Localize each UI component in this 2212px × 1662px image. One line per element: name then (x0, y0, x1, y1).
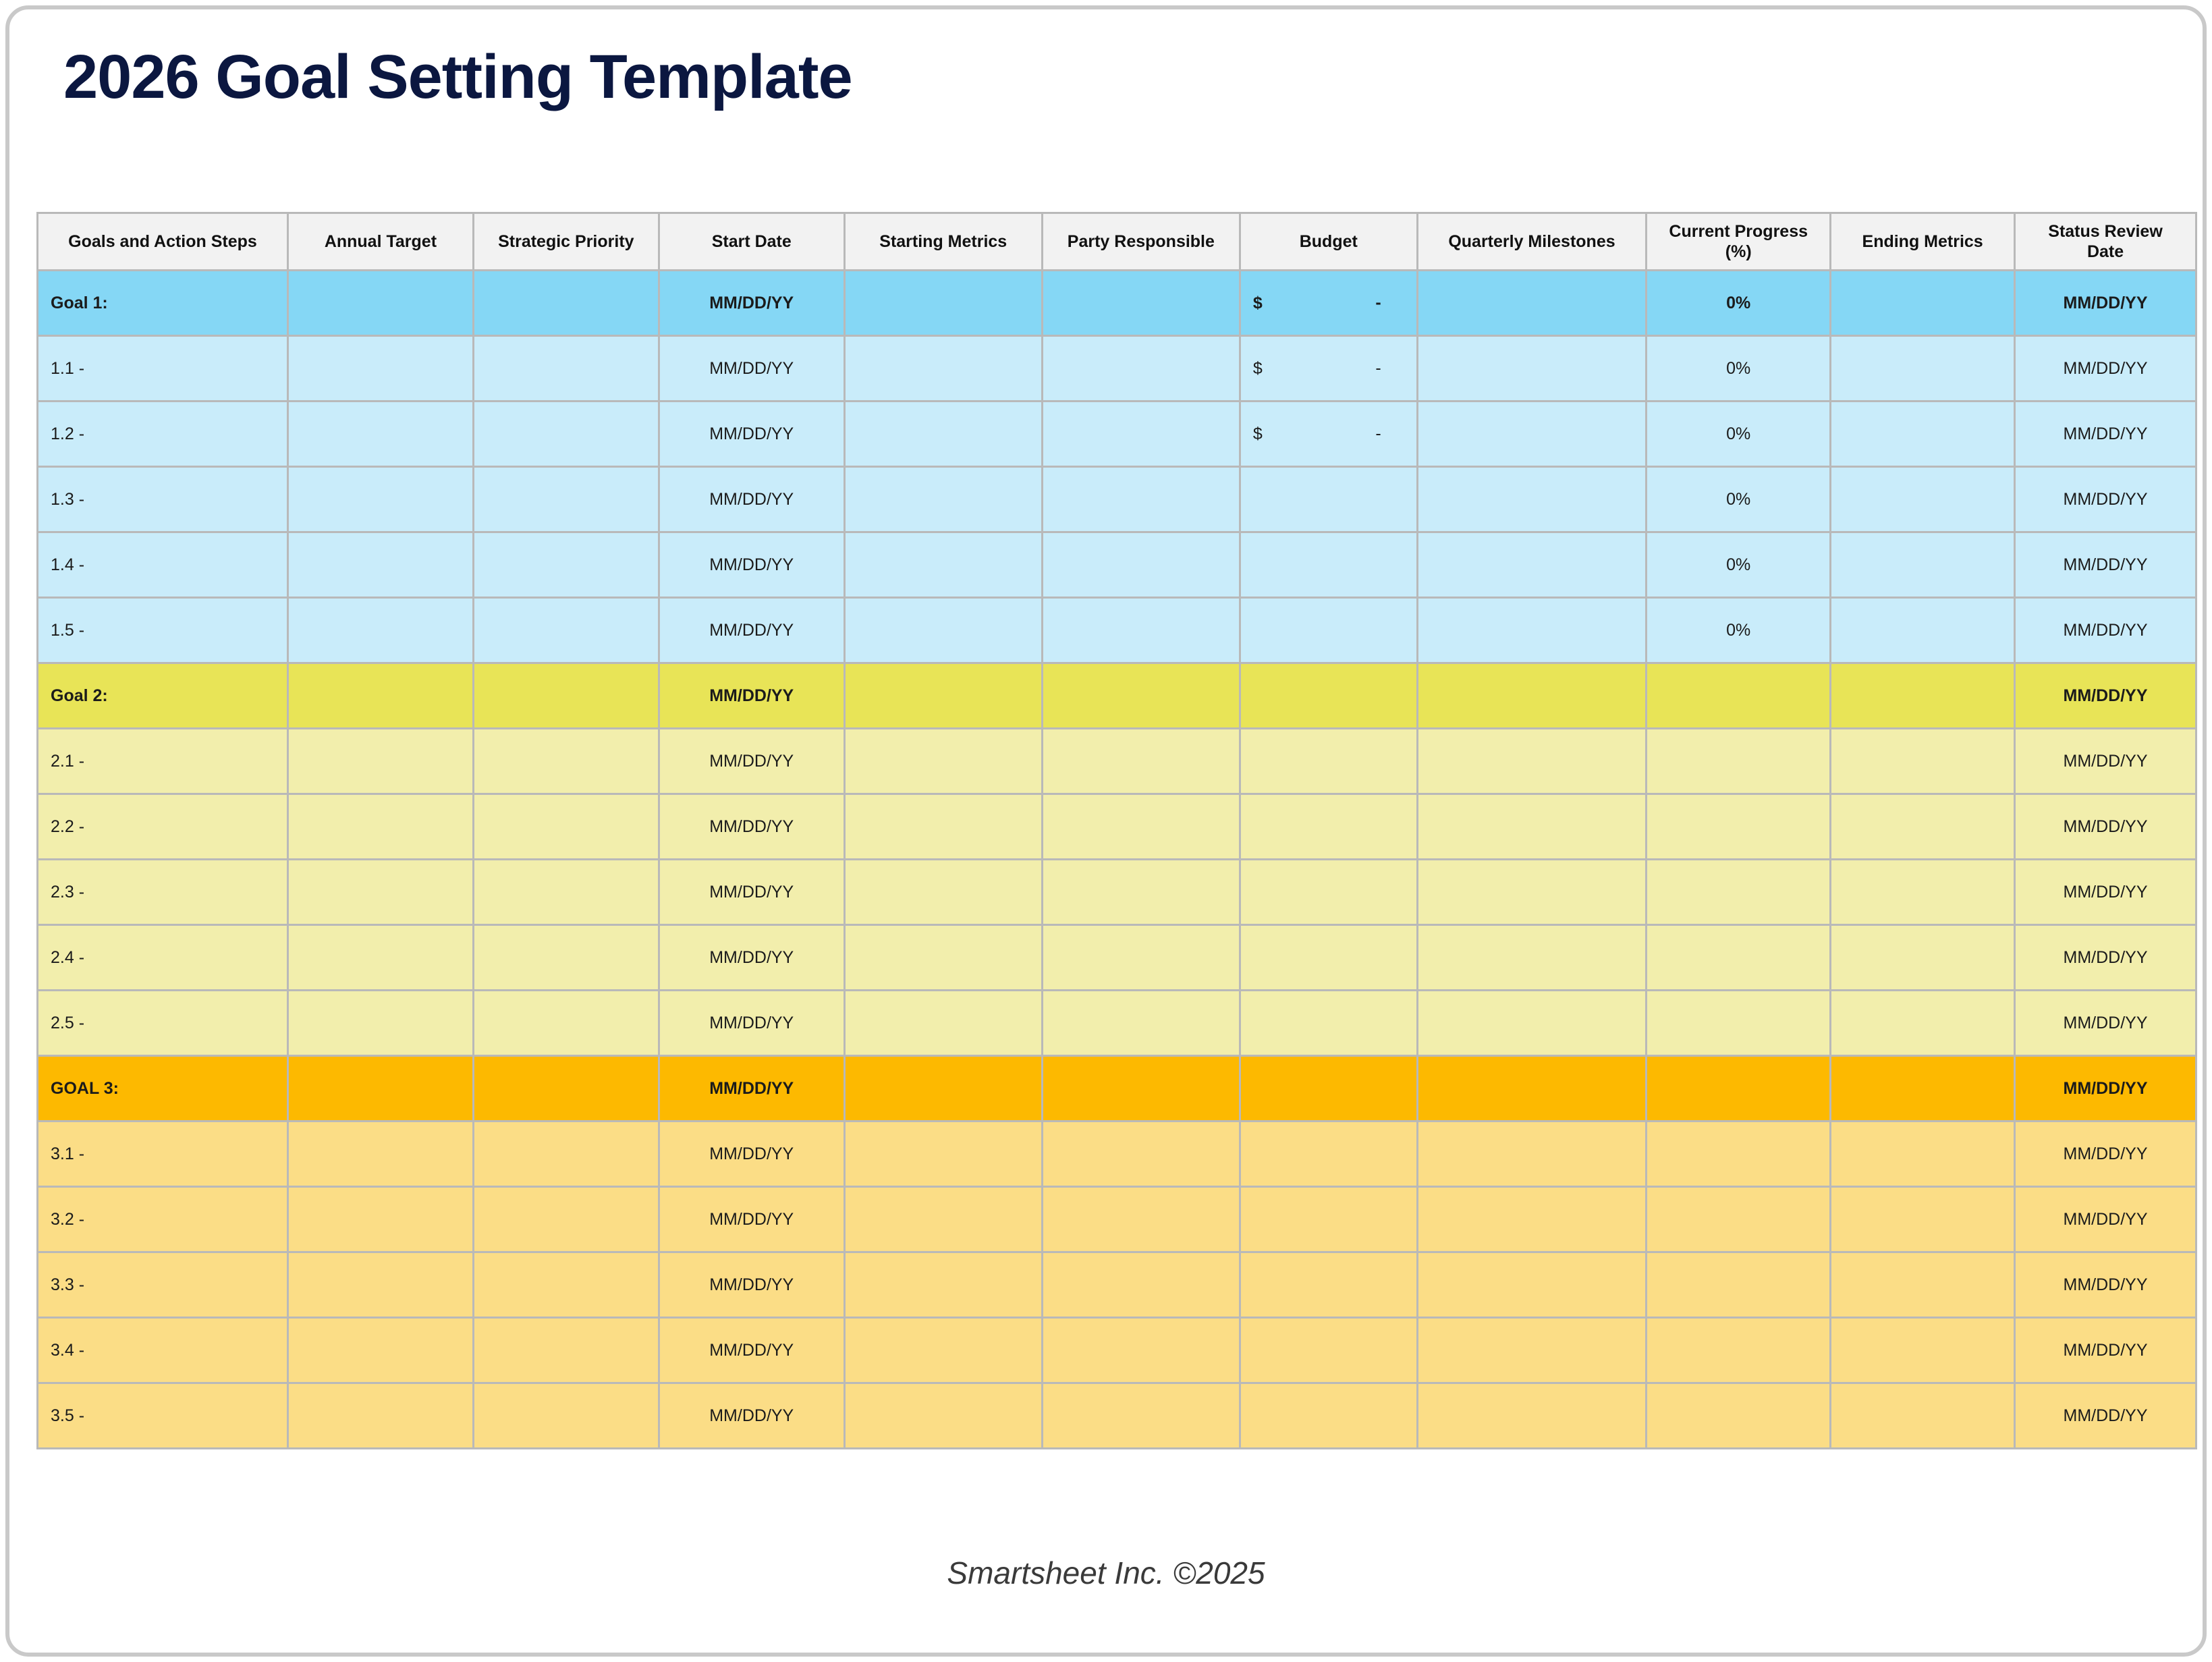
cell-strategic-priority-9[interactable] (474, 860, 660, 926)
cell-quarterly-milestones-3[interactable] (1418, 468, 1648, 533)
cell-budget-1[interactable]: $- (1241, 337, 1418, 402)
cell-current-progress-16[interactable] (1647, 1319, 1831, 1384)
cell-status-review-date-15[interactable]: MM/DD/YY (2016, 1253, 2197, 1319)
cell-current-progress-17[interactable] (1647, 1384, 1831, 1449)
cell-start-date-14[interactable]: MM/DD/YY (660, 1188, 846, 1253)
cell-annual-target-15[interactable] (289, 1253, 474, 1319)
cell-budget-9[interactable] (1241, 860, 1418, 926)
cell-party-responsible-8[interactable] (1043, 795, 1241, 860)
cell-party-responsible-14[interactable] (1043, 1188, 1241, 1253)
cell-current-progress-15[interactable] (1647, 1253, 1831, 1319)
cell-status-review-date-1[interactable]: MM/DD/YY (2016, 337, 2197, 402)
cell-ending-metrics-12[interactable] (1831, 1057, 2016, 1122)
cell-status-review-date-13[interactable]: MM/DD/YY (2016, 1122, 2197, 1188)
cell-starting-metrics-14[interactable] (846, 1188, 1043, 1253)
cell-budget-17[interactable] (1241, 1384, 1418, 1449)
cell-budget-5[interactable] (1241, 599, 1418, 664)
cell-current-progress-10[interactable] (1647, 926, 1831, 991)
cell-start-date-17[interactable]: MM/DD/YY (660, 1384, 846, 1449)
table-row[interactable]: 1.4 -MM/DD/YY0%MM/DD/YY (36, 533, 2197, 599)
cell-party-responsible-16[interactable] (1043, 1319, 1241, 1384)
budget-currency-symbol: $ (1253, 424, 1263, 443)
cell-party-responsible-12[interactable] (1043, 1057, 1241, 1122)
cell-start-date-12[interactable]: MM/DD/YY (660, 1057, 846, 1122)
table-row[interactable]: 3.4 -MM/DD/YYMM/DD/YY (36, 1319, 2197, 1384)
cell-strategic-priority-17[interactable] (474, 1384, 660, 1449)
col-header-current-progress[interactable]: Current Progress (%) (1647, 212, 1831, 271)
col-header-goals[interactable]: Goals and Action Steps (36, 212, 289, 271)
cell-strategic-priority-5[interactable] (474, 599, 660, 664)
cell-status-review-date-9[interactable]: MM/DD/YY (2016, 860, 2197, 926)
cell-quarterly-milestones-8[interactable] (1418, 795, 1648, 860)
cell-party-responsible-13[interactable] (1043, 1122, 1241, 1188)
document-card: 2026 Goal Setting Template Goals and Act… (5, 5, 2207, 1657)
cell-status-review-date-5[interactable]: MM/DD/YY (2016, 599, 2197, 664)
cell-strategic-priority-14[interactable] (474, 1188, 660, 1253)
cell-quarterly-milestones-6[interactable] (1418, 664, 1648, 729)
cell-budget-14[interactable] (1241, 1188, 1418, 1253)
cell-annual-target-10[interactable] (289, 926, 474, 991)
table-row[interactable]: 2.2 -MM/DD/YYMM/DD/YY (36, 795, 2197, 860)
cell-quarterly-milestones-11[interactable] (1418, 991, 1648, 1057)
cell-annual-target-5[interactable] (289, 599, 474, 664)
cell-annual-target-0[interactable] (289, 271, 474, 337)
cell-ending-metrics-13[interactable] (1831, 1122, 2016, 1188)
cell-ending-metrics-16[interactable] (1831, 1319, 2016, 1384)
table-row[interactable]: 1.1 -MM/DD/YY$-0%MM/DD/YY (36, 337, 2197, 402)
table-row[interactable]: 2.4 -MM/DD/YYMM/DD/YY (36, 926, 2197, 991)
cell-status-review-date-6[interactable]: MM/DD/YY (2016, 664, 2197, 729)
cell-goal-2[interactable]: 1.2 - (36, 402, 289, 468)
cell-current-progress-12[interactable] (1647, 1057, 1831, 1122)
cell-status-review-date-16[interactable]: MM/DD/YY (2016, 1319, 2197, 1384)
cell-starting-metrics-5[interactable] (846, 599, 1043, 664)
cell-ending-metrics-10[interactable] (1831, 926, 2016, 991)
cell-quarterly-milestones-15[interactable] (1418, 1253, 1648, 1319)
cell-starting-metrics-3[interactable] (846, 468, 1043, 533)
cell-goal-6[interactable]: Goal 2: (36, 664, 289, 729)
cell-quarterly-milestones-7[interactable] (1418, 729, 1648, 795)
cell-ending-metrics-8[interactable] (1831, 795, 2016, 860)
cell-party-responsible-10[interactable] (1043, 926, 1241, 991)
cell-budget-6[interactable] (1241, 664, 1418, 729)
cell-starting-metrics-6[interactable] (846, 664, 1043, 729)
cell-start-date-15[interactable]: MM/DD/YY (660, 1253, 846, 1319)
budget-value: - (1375, 424, 1381, 444)
cell-starting-metrics-17[interactable] (846, 1384, 1043, 1449)
cell-annual-target-8[interactable] (289, 795, 474, 860)
cell-current-progress-9[interactable] (1647, 860, 1831, 926)
cell-start-date-6[interactable]: MM/DD/YY (660, 664, 846, 729)
cell-status-review-date-8[interactable]: MM/DD/YY (2016, 795, 2197, 860)
cell-goal-13[interactable]: 3.1 - (36, 1122, 289, 1188)
col-header-status-review-date[interactable]: Status Review Date (2016, 212, 2197, 271)
cell-quarterly-milestones-1[interactable] (1418, 337, 1648, 402)
cell-current-progress-4[interactable]: 0% (1647, 533, 1831, 599)
cell-budget-11[interactable] (1241, 991, 1418, 1057)
goal-setting-table: Goals and Action Steps Annual Target Str… (36, 212, 2197, 1449)
table-body: Goal 1:MM/DD/YY$-0%MM/DD/YY1.1 -MM/DD/YY… (36, 271, 2197, 1449)
cell-strategic-priority-13[interactable] (474, 1122, 660, 1188)
cell-annual-target-1[interactable] (289, 337, 474, 402)
cell-starting-metrics-2[interactable] (846, 402, 1043, 468)
cell-ending-metrics-9[interactable] (1831, 860, 2016, 926)
cell-quarterly-milestones-10[interactable] (1418, 926, 1648, 991)
cell-quarterly-milestones-9[interactable] (1418, 860, 1648, 926)
cell-party-responsible-2[interactable] (1043, 402, 1241, 468)
cell-party-responsible-6[interactable] (1043, 664, 1241, 729)
cell-annual-target-16[interactable] (289, 1319, 474, 1384)
cell-goal-17[interactable]: 3.5 - (36, 1384, 289, 1449)
goal-header-row[interactable]: Goal 1:MM/DD/YY$-0%MM/DD/YY (36, 271, 2197, 337)
cell-ending-metrics-15[interactable] (1831, 1253, 2016, 1319)
cell-party-responsible-4[interactable] (1043, 533, 1241, 599)
cell-goal-8[interactable]: 2.2 - (36, 795, 289, 860)
cell-status-review-date-4[interactable]: MM/DD/YY (2016, 533, 2197, 599)
cell-status-review-date-2[interactable]: MM/DD/YY (2016, 402, 2197, 468)
status-review-label-line1: Status Review (2048, 222, 2163, 241)
cell-start-date-9[interactable]: MM/DD/YY (660, 860, 846, 926)
cell-strategic-priority-6[interactable] (474, 664, 660, 729)
cell-strategic-priority-8[interactable] (474, 795, 660, 860)
current-progress-label-line1: Current Progress (1669, 222, 1808, 241)
cell-quarterly-milestones-12[interactable] (1418, 1057, 1648, 1122)
col-header-quarterly-milestones[interactable]: Quarterly Milestones (1418, 212, 1648, 271)
cell-party-responsible-1[interactable] (1043, 337, 1241, 402)
cell-ending-metrics-7[interactable] (1831, 729, 2016, 795)
cell-strategic-priority-1[interactable] (474, 337, 660, 402)
cell-goal-4[interactable]: 1.4 - (36, 533, 289, 599)
cell-start-date-7[interactable]: MM/DD/YY (660, 729, 846, 795)
cell-goal-3[interactable]: 1.3 - (36, 468, 289, 533)
cell-quarterly-milestones-16[interactable] (1418, 1319, 1648, 1384)
cell-quarterly-milestones-0[interactable] (1418, 271, 1648, 337)
budget-value: - (1375, 294, 1381, 313)
cell-annual-target-11[interactable] (289, 991, 474, 1057)
cell-quarterly-milestones-14[interactable] (1418, 1188, 1648, 1253)
cell-goal-11[interactable]: 2.5 - (36, 991, 289, 1057)
cell-status-review-date-11[interactable]: MM/DD/YY (2016, 991, 2197, 1057)
cell-strategic-priority-2[interactable] (474, 402, 660, 468)
cell-ending-metrics-11[interactable] (1831, 991, 2016, 1057)
table-row[interactable]: 3.3 -MM/DD/YYMM/DD/YY (36, 1253, 2197, 1319)
cell-start-date-11[interactable]: MM/DD/YY (660, 991, 846, 1057)
cell-party-responsible-3[interactable] (1043, 468, 1241, 533)
cell-budget-7[interactable] (1241, 729, 1418, 795)
cell-ending-metrics-3[interactable] (1831, 468, 2016, 533)
table-row[interactable]: 2.5 -MM/DD/YYMM/DD/YY (36, 991, 2197, 1057)
cell-current-progress-1[interactable]: 0% (1647, 337, 1831, 402)
cell-start-date-3[interactable]: MM/DD/YY (660, 468, 846, 533)
cell-current-progress-14[interactable] (1647, 1188, 1831, 1253)
cell-strategic-priority-4[interactable] (474, 533, 660, 599)
page-title: 2026 Goal Setting Template (63, 42, 852, 113)
cell-status-review-date-0[interactable]: MM/DD/YY (2016, 271, 2197, 337)
cell-annual-target-17[interactable] (289, 1384, 474, 1449)
cell-annual-target-6[interactable] (289, 664, 474, 729)
cell-annual-target-3[interactable] (289, 468, 474, 533)
cell-current-progress-8[interactable] (1647, 795, 1831, 860)
cell-quarterly-milestones-17[interactable] (1418, 1384, 1648, 1449)
cell-annual-target-9[interactable] (289, 860, 474, 926)
cell-party-responsible-15[interactable] (1043, 1253, 1241, 1319)
cell-start-date-13[interactable]: MM/DD/YY (660, 1122, 846, 1188)
cell-strategic-priority-15[interactable] (474, 1253, 660, 1319)
cell-starting-metrics-11[interactable] (846, 991, 1043, 1057)
cell-budget-3[interactable] (1241, 468, 1418, 533)
table-row[interactable]: 2.1 -MM/DD/YYMM/DD/YY (36, 729, 2197, 795)
budget-value: - (1375, 359, 1381, 379)
cell-goal-12[interactable]: GOAL 3: (36, 1057, 289, 1122)
cell-starting-metrics-7[interactable] (846, 729, 1043, 795)
cell-strategic-priority-16[interactable] (474, 1319, 660, 1384)
cell-goal-0[interactable]: Goal 1: (36, 271, 289, 337)
cell-ending-metrics-2[interactable] (1831, 402, 2016, 468)
cell-ending-metrics-4[interactable] (1831, 533, 2016, 599)
cell-annual-target-2[interactable] (289, 402, 474, 468)
col-header-start-date[interactable]: Start Date (660, 212, 846, 271)
cell-status-review-date-12[interactable]: MM/DD/YY (2016, 1057, 2197, 1122)
cell-starting-metrics-1[interactable] (846, 337, 1043, 402)
cell-starting-metrics-9[interactable] (846, 860, 1043, 926)
cell-starting-metrics-16[interactable] (846, 1319, 1043, 1384)
cell-starting-metrics-13[interactable] (846, 1122, 1043, 1188)
cell-annual-target-14[interactable] (289, 1188, 474, 1253)
cell-annual-target-7[interactable] (289, 729, 474, 795)
table-row[interactable]: 1.3 -MM/DD/YY0%MM/DD/YY (36, 468, 2197, 533)
cell-annual-target-4[interactable] (289, 533, 474, 599)
cell-budget-4[interactable] (1241, 533, 1418, 599)
table-row[interactable]: 1.5 -MM/DD/YY0%MM/DD/YY (36, 599, 2197, 664)
cell-goal-7[interactable]: 2.1 - (36, 729, 289, 795)
cell-ending-metrics-14[interactable] (1831, 1188, 2016, 1253)
cell-ending-metrics-1[interactable] (1831, 337, 2016, 402)
cell-strategic-priority-11[interactable] (474, 991, 660, 1057)
col-header-party-responsible[interactable]: Party Responsible (1043, 212, 1241, 271)
cell-start-date-4[interactable]: MM/DD/YY (660, 533, 846, 599)
cell-start-date-16[interactable]: MM/DD/YY (660, 1319, 846, 1384)
cell-budget-13[interactable] (1241, 1122, 1418, 1188)
cell-start-date-0[interactable]: MM/DD/YY (660, 271, 846, 337)
cell-quarterly-milestones-13[interactable] (1418, 1122, 1648, 1188)
cell-status-review-date-14[interactable]: MM/DD/YY (2016, 1188, 2197, 1253)
page-root: 2026 Goal Setting Template Goals and Act… (0, 0, 2212, 1662)
cell-party-responsible-0[interactable] (1043, 271, 1241, 337)
col-header-starting-metrics[interactable]: Starting Metrics (846, 212, 1043, 271)
cell-quarterly-milestones-4[interactable] (1418, 533, 1648, 599)
cell-status-review-date-3[interactable]: MM/DD/YY (2016, 468, 2197, 533)
cell-ending-metrics-5[interactable] (1831, 599, 2016, 664)
cell-strategic-priority-0[interactable] (474, 271, 660, 337)
cell-status-review-date-17[interactable]: MM/DD/YY (2016, 1384, 2197, 1449)
cell-goal-16[interactable]: 3.4 - (36, 1319, 289, 1384)
cell-budget-16[interactable] (1241, 1319, 1418, 1384)
cell-current-progress-13[interactable] (1647, 1122, 1831, 1188)
cell-start-date-8[interactable]: MM/DD/YY (660, 795, 846, 860)
table-header: Goals and Action Steps Annual Target Str… (36, 212, 2197, 271)
col-header-ending-metrics[interactable]: Ending Metrics (1831, 212, 2016, 271)
cell-ending-metrics-6[interactable] (1831, 664, 2016, 729)
cell-budget-0[interactable]: $- (1241, 271, 1418, 337)
cell-goal-15[interactable]: 3.3 - (36, 1253, 289, 1319)
cell-status-review-date-10[interactable]: MM/DD/YY (2016, 926, 2197, 991)
goal-header-row[interactable]: Goal 2:MM/DD/YYMM/DD/YY (36, 664, 2197, 729)
cell-goal-1[interactable]: 1.1 - (36, 337, 289, 402)
cell-budget-10[interactable] (1241, 926, 1418, 991)
cell-starting-metrics-0[interactable] (846, 271, 1043, 337)
cell-party-responsible-7[interactable] (1043, 729, 1241, 795)
cell-party-responsible-5[interactable] (1043, 599, 1241, 664)
goal-header-row[interactable]: GOAL 3:MM/DD/YYMM/DD/YY (36, 1057, 2197, 1122)
cell-status-review-date-7[interactable]: MM/DD/YY (2016, 729, 2197, 795)
cell-party-responsible-17[interactable] (1043, 1384, 1241, 1449)
cell-quarterly-milestones-2[interactable] (1418, 402, 1648, 468)
current-progress-label-line2: (%) (1725, 242, 1752, 261)
table-header-row: Goals and Action Steps Annual Target Str… (36, 212, 2197, 271)
cell-start-date-1[interactable]: MM/DD/YY (660, 337, 846, 402)
cell-starting-metrics-12[interactable] (846, 1057, 1043, 1122)
col-header-annual-target[interactable]: Annual Target (289, 212, 474, 271)
cell-ending-metrics-17[interactable] (1831, 1384, 2016, 1449)
cell-annual-target-13[interactable] (289, 1122, 474, 1188)
cell-starting-metrics-15[interactable] (846, 1253, 1043, 1319)
cell-goal-9[interactable]: 2.3 - (36, 860, 289, 926)
cell-strategic-priority-12[interactable] (474, 1057, 660, 1122)
cell-annual-target-12[interactable] (289, 1057, 474, 1122)
cell-current-progress-3[interactable]: 0% (1647, 468, 1831, 533)
cell-start-date-5[interactable]: MM/DD/YY (660, 599, 846, 664)
cell-budget-8[interactable] (1241, 795, 1418, 860)
col-header-strategic-priority[interactable]: Strategic Priority (474, 212, 660, 271)
cell-current-progress-6[interactable] (1647, 664, 1831, 729)
cell-quarterly-milestones-5[interactable] (1418, 599, 1648, 664)
cell-starting-metrics-8[interactable] (846, 795, 1043, 860)
cell-starting-metrics-4[interactable] (846, 533, 1043, 599)
cell-budget-15[interactable] (1241, 1253, 1418, 1319)
cell-strategic-priority-7[interactable] (474, 729, 660, 795)
cell-current-progress-11[interactable] (1647, 991, 1831, 1057)
cell-budget-12[interactable] (1241, 1057, 1418, 1122)
cell-ending-metrics-0[interactable] (1831, 271, 2016, 337)
table-row[interactable]: 3.1 -MM/DD/YYMM/DD/YY (36, 1122, 2197, 1188)
cell-goal-10[interactable]: 2.4 - (36, 926, 289, 991)
cell-goal-14[interactable]: 3.2 - (36, 1188, 289, 1253)
cell-strategic-priority-3[interactable] (474, 468, 660, 533)
footer-copyright: Smartsheet Inc. ©2025 (9, 1555, 2203, 1591)
cell-goal-5[interactable]: 1.5 - (36, 599, 289, 664)
cell-strategic-priority-10[interactable] (474, 926, 660, 991)
table-row[interactable]: 2.3 -MM/DD/YYMM/DD/YY (36, 860, 2197, 926)
cell-starting-metrics-10[interactable] (846, 926, 1043, 991)
cell-current-progress-7[interactable] (1647, 729, 1831, 795)
cell-current-progress-5[interactable]: 0% (1647, 599, 1831, 664)
table-row[interactable]: 3.2 -MM/DD/YYMM/DD/YY (36, 1188, 2197, 1253)
col-header-budget[interactable]: Budget (1241, 212, 1418, 271)
cell-party-responsible-11[interactable] (1043, 991, 1241, 1057)
table-row[interactable]: 1.2 -MM/DD/YY$-0%MM/DD/YY (36, 402, 2197, 468)
cell-current-progress-2[interactable]: 0% (1647, 402, 1831, 468)
status-review-label-line2: Date (2087, 242, 2124, 261)
budget-currency-symbol: $ (1253, 359, 1263, 378)
table-row[interactable]: 3.5 -MM/DD/YYMM/DD/YY (36, 1384, 2197, 1449)
cell-start-date-10[interactable]: MM/DD/YY (660, 926, 846, 991)
cell-current-progress-0[interactable]: 0% (1647, 271, 1831, 337)
cell-start-date-2[interactable]: MM/DD/YY (660, 402, 846, 468)
budget-currency-symbol: $ (1253, 294, 1263, 312)
cell-party-responsible-9[interactable] (1043, 860, 1241, 926)
cell-budget-2[interactable]: $- (1241, 402, 1418, 468)
